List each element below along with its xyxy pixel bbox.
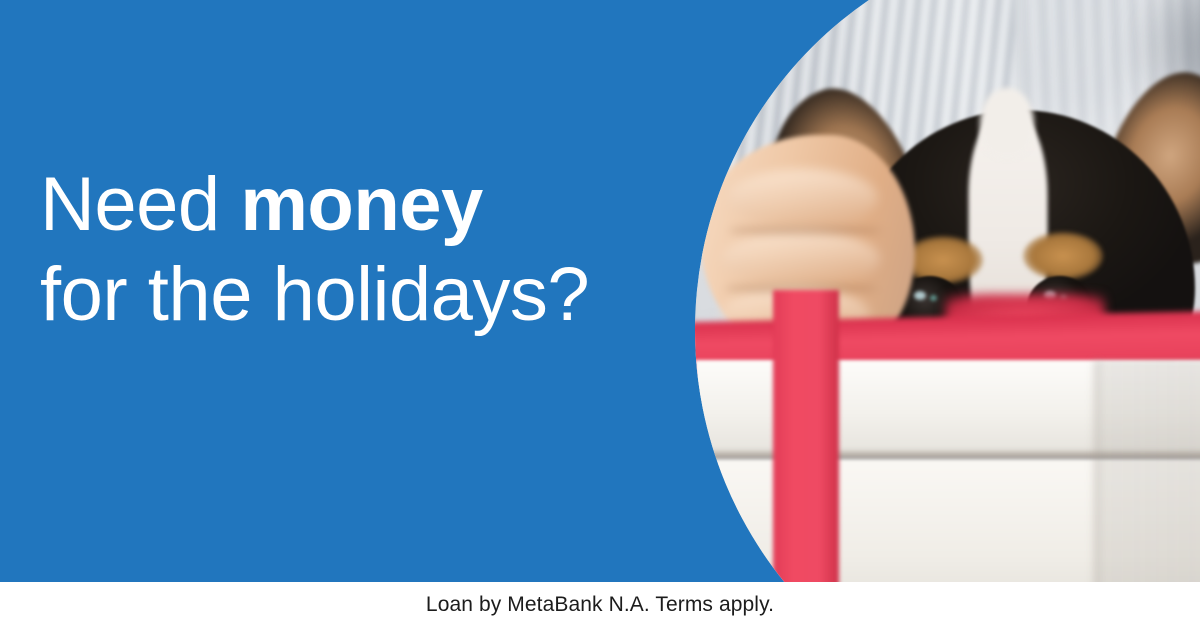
headline-line-1: Need money bbox=[40, 168, 700, 242]
knuckle bbox=[722, 231, 880, 287]
disclaimer-text: Loan by MetaBank N.A. Terms apply. bbox=[426, 593, 774, 617]
photo-inner bbox=[695, 0, 1200, 582]
gift-box-shading bbox=[1095, 360, 1200, 582]
dog-brow-right bbox=[1023, 232, 1103, 280]
dog-forehead-spot bbox=[980, 88, 1034, 158]
ribbon-vertical-left bbox=[773, 290, 839, 582]
eye-glint bbox=[914, 291, 926, 300]
eye-glint bbox=[930, 295, 937, 301]
headline-line-2: for the holidays? bbox=[40, 258, 700, 332]
headline-prefix: Need bbox=[40, 162, 240, 247]
gift-box bbox=[695, 360, 1200, 582]
headline-accent-word: money bbox=[240, 162, 482, 247]
knuckle-crease bbox=[730, 227, 880, 234]
dog-brow-left bbox=[903, 236, 983, 284]
knuckle bbox=[728, 169, 878, 227]
circular-photo bbox=[695, 0, 1200, 582]
headline: Need money for the holidays? bbox=[40, 168, 700, 333]
gift-box-edge bbox=[1091, 360, 1101, 582]
footer-bar: Loan by MetaBank N.A. Terms apply. bbox=[0, 582, 1200, 628]
promo-banner: Need money for the holidays? Loan by Met… bbox=[0, 0, 1200, 628]
